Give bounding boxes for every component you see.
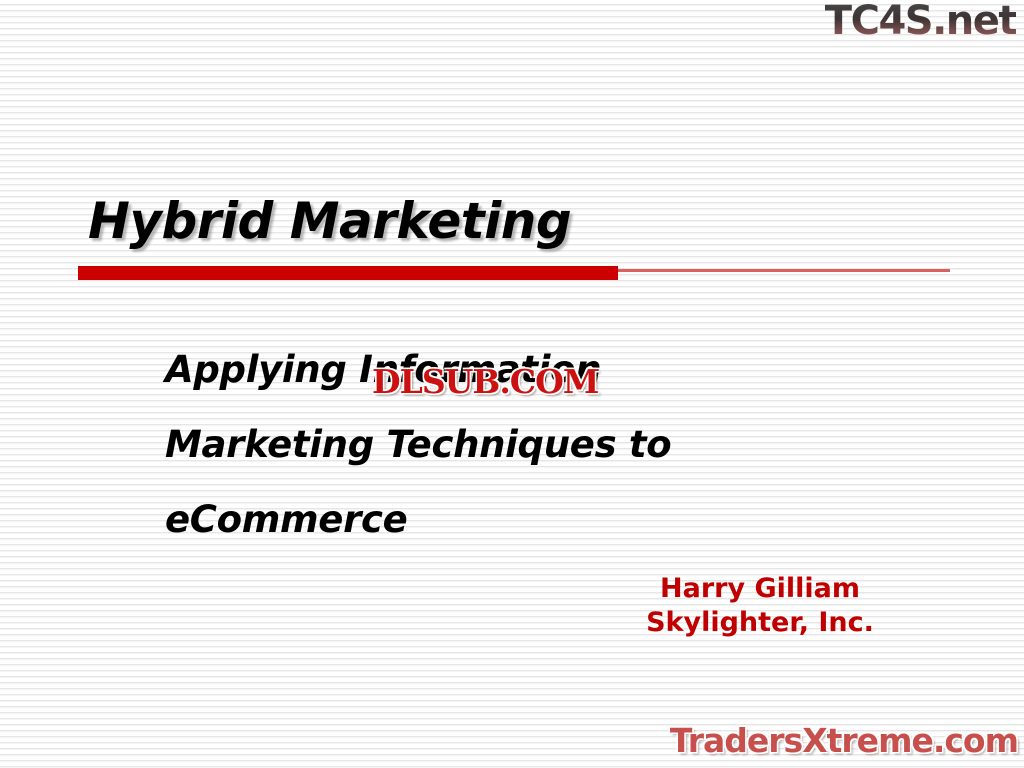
watermark-dlsub-logo: DLSUB.COM	[372, 362, 598, 401]
subtitle-line-2: Marketing Techniques to	[165, 407, 865, 482]
slide-canvas: Hybrid Marketing Applying Information Ma…	[0, 0, 1024, 768]
author-name: Harry Gilliam	[560, 572, 960, 606]
author-credit-block: Harry Gilliam Skylighter, Inc.	[560, 572, 960, 640]
subtitle-line-3: eCommerce	[165, 482, 865, 557]
watermark-tc4s-logo: TC4S.net	[825, 0, 1016, 44]
watermark-tradersxtreme-logo: TradersXtreme.com	[670, 721, 1018, 760]
title-underline-thin	[618, 269, 950, 272]
author-company: Skylighter, Inc.	[560, 606, 960, 640]
page-title: Hybrid Marketing	[88, 192, 571, 250]
title-underline-thick	[78, 266, 618, 280]
